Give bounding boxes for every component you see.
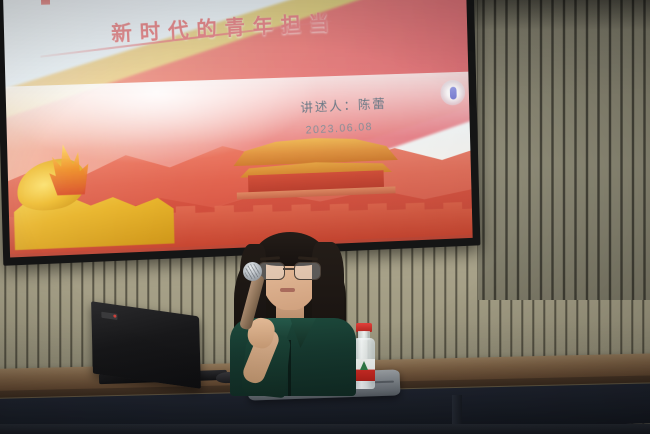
wall-right-section [478,0,650,300]
mouth [280,288,295,292]
floor [0,424,650,434]
laptop [91,301,201,389]
pine-tree-icon [360,361,368,370]
slide-surface: 新时代的青年担当 讲述人：陈蕾 2023.06.08 [3,0,473,257]
glasses-icon [258,262,322,278]
speaker-person [228,222,356,390]
glasses-bridge [283,268,294,270]
glasses-lens-right [294,262,321,280]
thinkpad-logo-icon [101,312,117,320]
badge-inner-shape [449,86,456,99]
photo-scene: 新时代的青年担当 讲述人：陈蕾 2023.06.08 [0,0,650,434]
slide-corner-mark [41,0,50,5]
